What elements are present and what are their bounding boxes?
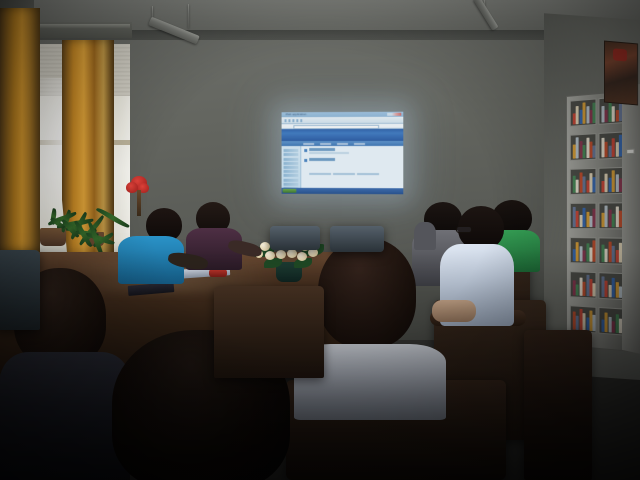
toolbar-icons xyxy=(285,119,305,122)
magazine xyxy=(605,110,608,123)
rose-bloom xyxy=(287,249,297,258)
arm-raised xyxy=(414,222,436,250)
shelf-cubby xyxy=(570,168,597,195)
torso xyxy=(0,352,130,480)
row-text-block xyxy=(309,148,400,155)
row-title xyxy=(309,158,335,161)
magazine xyxy=(593,209,596,227)
magazine xyxy=(612,214,615,227)
magazine xyxy=(612,278,615,298)
shelf-side-panel xyxy=(622,84,640,354)
chair-left-center xyxy=(214,286,324,378)
projected-taskbar xyxy=(282,188,404,195)
chair-back-rest xyxy=(270,226,320,250)
nav-tab xyxy=(320,143,331,145)
magazine xyxy=(583,250,586,261)
row-marker-icon xyxy=(304,149,307,152)
magazine xyxy=(593,315,596,332)
magazine xyxy=(576,137,579,158)
arm xyxy=(432,300,476,322)
light-rod xyxy=(188,4,189,28)
red-object xyxy=(209,269,227,277)
magazine xyxy=(583,102,586,123)
nav-tab xyxy=(303,143,314,145)
magazine xyxy=(583,208,586,227)
row-field-box xyxy=(309,172,331,175)
row-text-line xyxy=(309,152,349,154)
glasses-icon xyxy=(456,226,472,233)
meeting-room-photo: Web application xyxy=(0,0,640,480)
shelf-cubby xyxy=(570,98,597,126)
row-title xyxy=(309,148,335,151)
projected-sidebar-item xyxy=(284,182,299,185)
magazine xyxy=(605,312,608,332)
row-field-box xyxy=(333,172,355,175)
window-controls xyxy=(387,113,401,116)
magazine xyxy=(593,145,596,157)
magazine xyxy=(605,174,608,193)
magazine xyxy=(576,211,579,227)
magazine xyxy=(612,170,615,192)
projected-sidebar-item xyxy=(284,158,299,161)
rose-bloom xyxy=(276,250,286,259)
shelf-cubby xyxy=(570,237,597,264)
magazine xyxy=(593,240,596,261)
row-marker-icon xyxy=(304,158,307,161)
projected-content-row xyxy=(304,148,400,155)
red-flowering-plant xyxy=(124,176,154,216)
shelf-frame xyxy=(566,90,628,351)
projected-sidebar-item xyxy=(284,166,299,169)
shelf-cubby xyxy=(570,203,597,230)
projection-screen: Web application xyxy=(282,112,404,195)
chair-back-rest xyxy=(330,226,384,252)
magazine xyxy=(576,316,579,330)
nav-tab xyxy=(354,142,365,144)
projected-sidebar-item xyxy=(284,162,299,165)
projected-sidebar-item xyxy=(284,170,299,173)
projected-sidebar-item xyxy=(284,149,299,152)
projected-sidebar xyxy=(282,146,302,194)
magazine xyxy=(576,284,579,295)
projected-sidebar-item xyxy=(284,178,299,181)
magazine xyxy=(593,177,596,192)
projected-sidebar-item xyxy=(284,174,299,177)
magazine xyxy=(583,282,586,296)
projected-site-banner xyxy=(282,129,404,141)
magazine-shelf xyxy=(566,90,628,351)
magazine xyxy=(583,145,586,158)
magazine xyxy=(612,246,615,263)
magazine xyxy=(583,176,586,192)
chair-right-edge xyxy=(524,330,592,480)
chair-left-empty xyxy=(0,250,40,330)
plant-stalk xyxy=(137,190,141,216)
framed-artwork xyxy=(604,41,638,106)
magazine xyxy=(612,106,615,122)
shelf-label xyxy=(626,149,634,155)
magazine xyxy=(612,321,615,333)
magazine xyxy=(605,206,608,228)
magazine xyxy=(576,180,579,193)
head xyxy=(318,238,416,348)
start-button-icon xyxy=(283,189,297,193)
shelf-cubby xyxy=(570,133,597,161)
magazine xyxy=(593,103,596,124)
magazine xyxy=(605,249,608,262)
row-field-box xyxy=(357,173,379,176)
magazine xyxy=(583,313,586,330)
magazine xyxy=(612,138,615,157)
magazine xyxy=(576,242,579,261)
magazine xyxy=(605,281,608,298)
rose-bloom xyxy=(265,251,275,260)
magazine xyxy=(605,142,608,158)
magazine xyxy=(593,283,596,296)
window-plant xyxy=(30,196,114,252)
nav-tab xyxy=(337,142,348,144)
projected-sidebar-item xyxy=(284,153,299,156)
shelf-cubby xyxy=(570,271,597,299)
magazine xyxy=(576,106,579,124)
rose-bloom xyxy=(297,252,307,261)
artwork-accent xyxy=(613,48,627,61)
